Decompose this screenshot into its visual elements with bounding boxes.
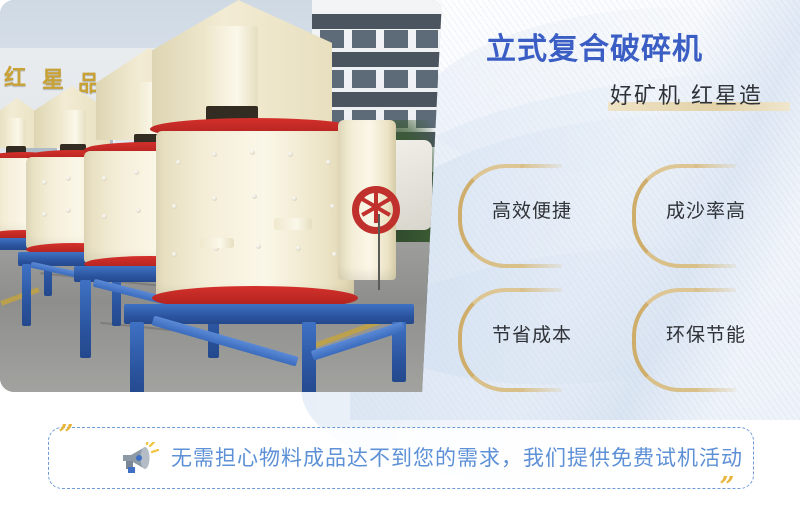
feature-item-0[interactable]: 高效便捷 <box>452 152 626 276</box>
feature-label: 节省成本 <box>492 320 626 347</box>
feature-item-3[interactable]: 环保节能 <box>626 276 800 400</box>
quote-mark-close: ” <box>715 474 733 500</box>
feature-item-1[interactable]: 成沙率高 <box>626 152 800 276</box>
feature-label: 环保节能 <box>666 320 800 347</box>
feature-row-1: 高效便捷 成沙率高 <box>452 152 800 276</box>
promo-banner-page: 红 星 品 <box>0 0 800 505</box>
promo-banner-text: 无需担心物料成品达不到您的需求，我们提供免费试机活动 <box>171 442 743 472</box>
feature-list: 高效便捷 成沙率高 节省成本 环保节能 <box>452 152 800 400</box>
quote-mark-open: ” <box>54 422 72 448</box>
page-subtitle: 好矿机 红星造 <box>610 78 763 110</box>
feature-label: 高效便捷 <box>492 196 626 223</box>
photo-cable <box>378 214 380 290</box>
feature-row-2: 节省成本 环保节能 <box>452 276 800 400</box>
wall-logo-char-2: 星 <box>42 62 64 94</box>
wall-logo-char-1: 红 <box>4 60 26 92</box>
feature-label: 成沙率高 <box>666 196 800 223</box>
promo-banner[interactable]: ” ” 无需担心物料成品达不到您的需求，我们提供免费试机活动 <box>48 427 754 489</box>
feature-item-2[interactable]: 节省成本 <box>452 276 626 400</box>
vertical-compound-crusher-photo: 红 星 品 <box>0 0 442 392</box>
hand-wheel-icon <box>352 186 400 234</box>
subtitle-group: 好矿机 红星造 <box>610 78 763 110</box>
page-title: 立式复合破碎机 <box>486 24 703 68</box>
megaphone-icon <box>119 442 159 474</box>
